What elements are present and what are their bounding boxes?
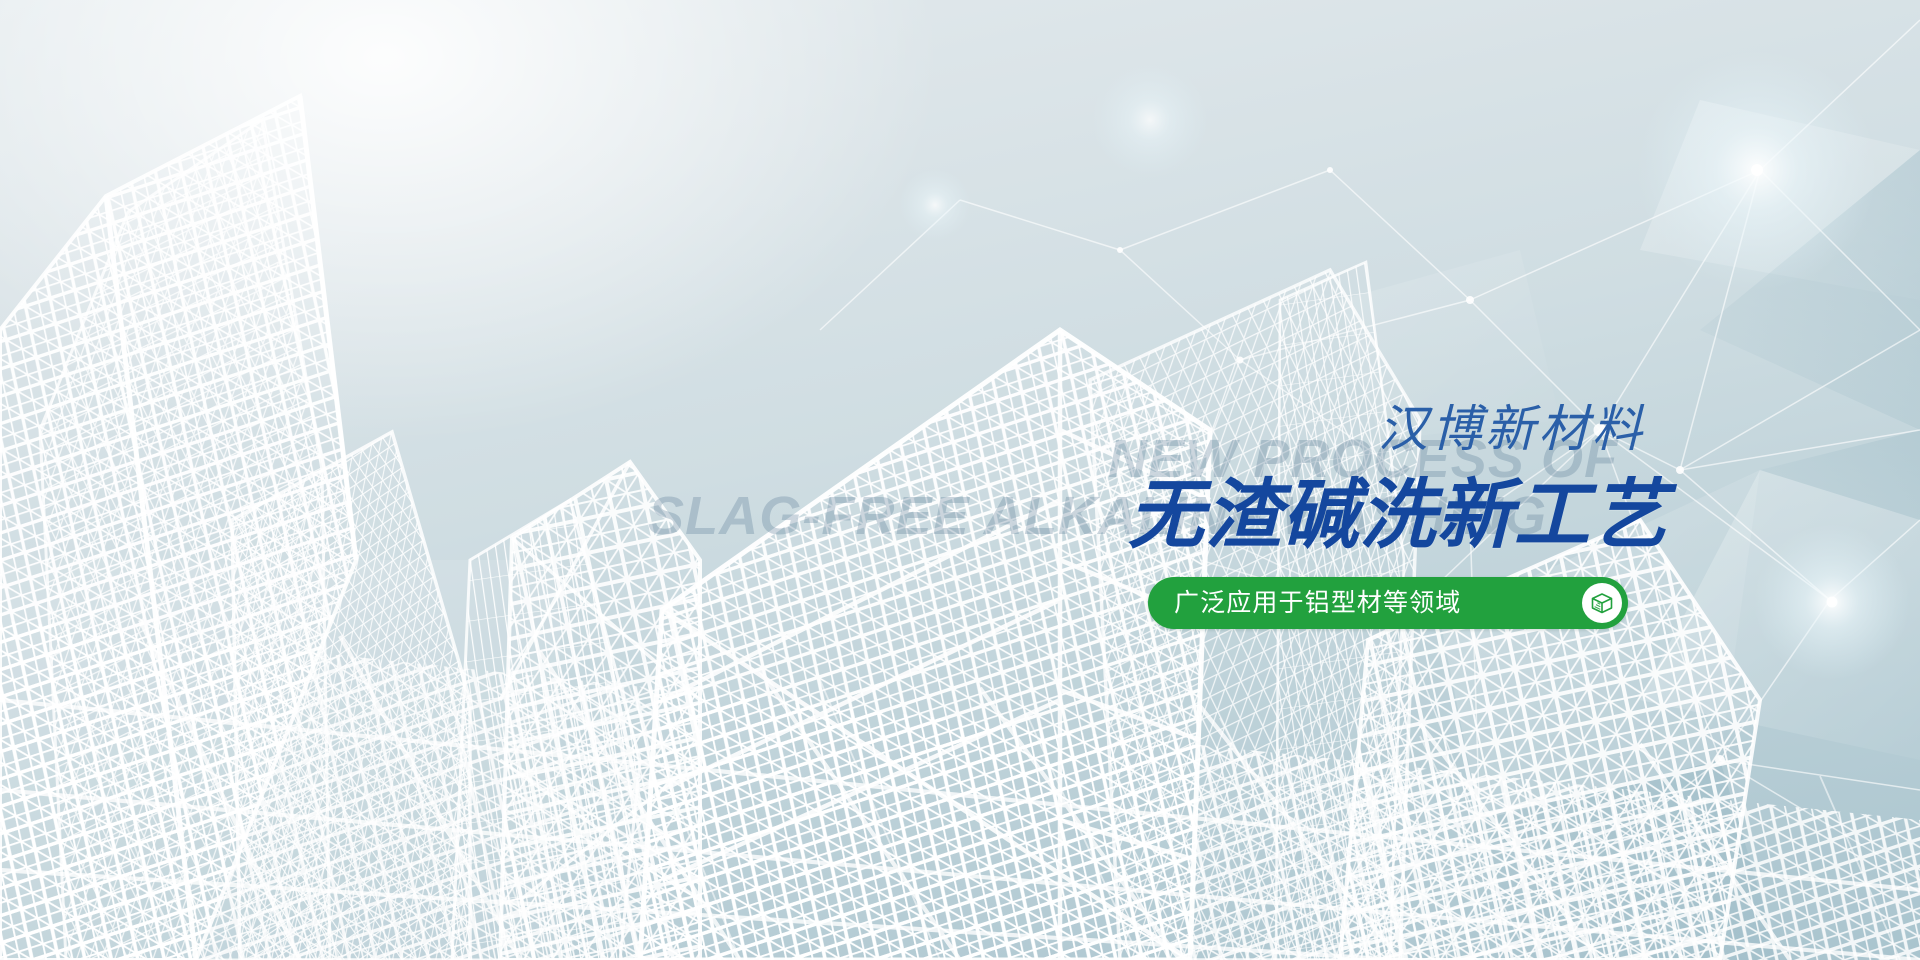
headline-title: 无渣碱洗新工艺 bbox=[1128, 478, 1668, 554]
subtitle-pill[interactable]: 广泛应用于铝型材等领域 bbox=[1148, 577, 1628, 629]
network-lines bbox=[820, 20, 1920, 900]
tower-left-spire bbox=[40, 120, 330, 960]
tower-mid-left-block bbox=[232, 432, 470, 960]
watermark-line-1: NEW PROCESS OF bbox=[1108, 432, 1618, 486]
polygon-facets bbox=[1340, 100, 1920, 960]
tower-central-glass bbox=[640, 330, 1210, 960]
tower-center-truss bbox=[500, 462, 700, 960]
hero-banner: NEW PROCESS OF SLAG-FREE ALKALINE WASHIN… bbox=[0, 0, 1920, 960]
banner-text-block: NEW PROCESS OF SLAG-FREE ALKALINE WASHIN… bbox=[0, 0, 1920, 960]
foreground-mesh-band bbox=[0, 620, 1920, 960]
background-artwork bbox=[0, 0, 1920, 960]
tower-far-left bbox=[0, 96, 356, 960]
brand-name: 汉博新材料 bbox=[1378, 404, 1646, 454]
network-nodes bbox=[1117, 164, 1838, 765]
subtitle-text: 广泛应用于铝型材等领域 bbox=[1174, 591, 1461, 616]
cube-3d-icon bbox=[1582, 583, 1622, 623]
tower-center-left bbox=[452, 500, 640, 960]
watermark-line-2: SLAG-FREE ALKALINE WASHING bbox=[648, 489, 1547, 543]
foreground-mullions bbox=[60, 640, 1900, 960]
